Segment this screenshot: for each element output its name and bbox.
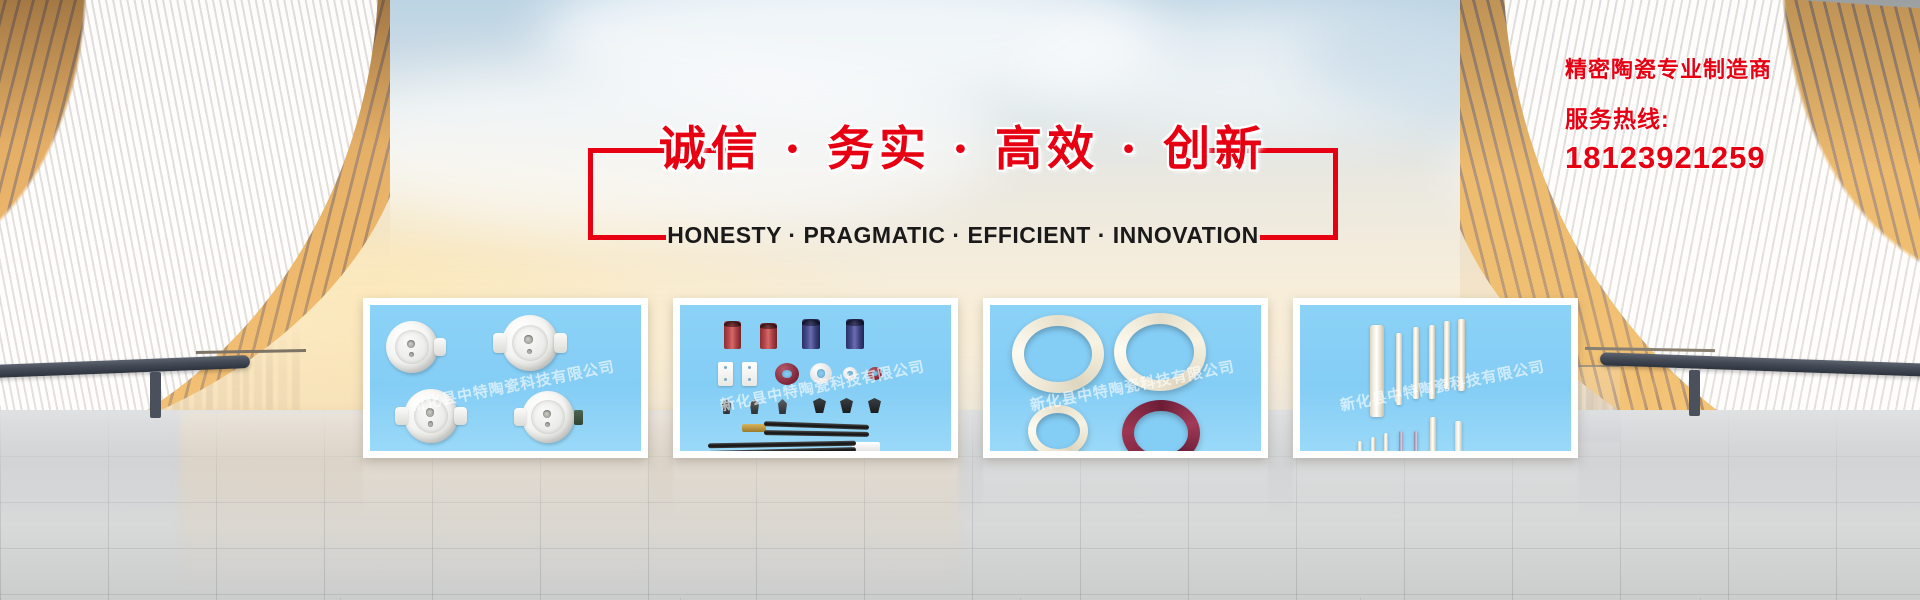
product-banner: 诚信 · 务实 · 高效 · 创新 HONESTY · PRAGMATIC · … xyxy=(0,0,1920,600)
slogan-block: 诚信 · 务实 · 高效 · 创新 HONESTY · PRAGMATIC · … xyxy=(588,148,1338,246)
slogan-chinese: 诚信 · 务实 · 高效 · 创新 xyxy=(588,110,1338,179)
company-tagline: 精密陶瓷专业制造商 xyxy=(1565,52,1905,84)
holder-hole xyxy=(407,340,415,348)
ceramic-rod xyxy=(1458,319,1465,391)
ceramic-sleeve-blue xyxy=(802,319,820,349)
holder-hole xyxy=(426,408,434,416)
railing-post-right-2 xyxy=(1689,370,1700,416)
slogan-english: HONESTY · PRAGMATIC · EFFICIENT · INNOVA… xyxy=(653,222,1272,249)
hotline-label: 服务热线: xyxy=(1565,100,1905,134)
ceramic-terminal xyxy=(778,399,787,414)
ceramic-rod-short xyxy=(1371,437,1375,451)
ceramic-terminal xyxy=(868,398,881,413)
sleeve-cap xyxy=(846,319,864,326)
plate-dot xyxy=(724,378,727,381)
ceramic-terminal xyxy=(840,398,853,413)
ceramic-sleeve-red xyxy=(760,323,777,349)
watermark: 新化县中特陶瓷科技有限公司 xyxy=(1300,347,1571,423)
ring-hole xyxy=(782,370,792,379)
holder-ear xyxy=(395,407,408,425)
ceramic-rod xyxy=(1444,321,1450,389)
ceramic-ring-maroon-small xyxy=(868,367,882,380)
wire-connector xyxy=(742,424,766,432)
ceramic-terminal xyxy=(750,399,759,414)
ceramic-ring-maroon xyxy=(775,363,799,385)
product-panel-rods[interactable]: 新化县中特陶瓷科技有限公司 xyxy=(1293,298,1578,458)
ceramic-plate xyxy=(742,362,757,386)
holder-ear xyxy=(454,407,467,425)
lamp-holder xyxy=(522,391,574,443)
ceramic-ring-maroon xyxy=(1122,400,1200,451)
ceramic-rod xyxy=(1396,333,1402,405)
product-panel-components[interactable]: 新化县中特陶瓷科技有限公司 xyxy=(673,298,958,458)
ceramic-rod-violet xyxy=(1399,431,1403,451)
ceramic-rod-short xyxy=(1384,433,1388,451)
ceramic-ring-large xyxy=(1012,315,1104,393)
sleeve-cap xyxy=(724,321,741,327)
ring-inner-hole xyxy=(1126,324,1194,380)
ceramic-rod-short xyxy=(1430,417,1436,451)
sleeve-cap xyxy=(760,323,777,329)
product-panel-lamp-holders[interactable]: 新化县中特陶瓷科技有限公司 xyxy=(363,298,648,458)
ceramic-rod-violet xyxy=(1414,431,1418,451)
ceramic-ring-white-small xyxy=(843,367,857,380)
panel-photo: 新化县中特陶瓷科技有限公司 xyxy=(370,305,641,451)
holder-pins xyxy=(574,410,583,426)
holder-ear xyxy=(434,338,446,356)
ceramic-rod xyxy=(1429,325,1435,399)
contact-block: 精密陶瓷专业制造商 服务热线: 18123921259 xyxy=(1565,52,1905,176)
ceramic-rod xyxy=(1413,327,1419,399)
floor-gloss xyxy=(0,410,1920,600)
plate-dot xyxy=(748,366,751,369)
wire-lead xyxy=(764,421,869,430)
holder-hole xyxy=(543,410,551,418)
railing-post-left xyxy=(150,372,161,418)
holder-ear xyxy=(554,333,567,352)
holder-ear xyxy=(493,333,506,352)
ceramic-sleeve-red xyxy=(724,321,741,349)
terrace-floor xyxy=(0,410,1920,600)
ceramic-terminal xyxy=(813,398,826,413)
panel-photo: 新化县中特陶瓷科技有限公司 xyxy=(1300,305,1571,451)
lamp-holder xyxy=(404,389,458,443)
plate-dot xyxy=(724,366,727,369)
product-panel-rings[interactable]: 新化县中特陶瓷科技有限公司 xyxy=(983,298,1268,458)
ring-inner-hole xyxy=(1024,326,1092,382)
ceramic-rod-short xyxy=(1358,441,1362,451)
ceramic-rod xyxy=(1370,325,1384,417)
ceramic-plate xyxy=(718,362,733,386)
holder-hole xyxy=(524,335,532,343)
wire-connector-white xyxy=(852,442,880,451)
ceramic-ring-large xyxy=(1114,313,1206,391)
ring-hole xyxy=(847,371,853,376)
hotline-number[interactable]: 18123921259 xyxy=(1565,140,1905,176)
curved-architecture-left xyxy=(0,0,390,450)
plate-dot xyxy=(748,378,751,381)
slogan-english-wrap: HONESTY · PRAGMATIC · EFFICIENT · INNOVA… xyxy=(588,222,1338,249)
lamp-holder xyxy=(502,315,558,371)
cloud xyxy=(540,0,1160,110)
ceramic-ring-white xyxy=(810,363,832,384)
holder-ear xyxy=(514,408,526,426)
panel-photo: 新化县中特陶瓷科技有限公司 xyxy=(990,305,1261,451)
lamp-holder xyxy=(386,321,438,373)
holder-hole xyxy=(428,421,433,426)
ring-hole xyxy=(872,371,878,376)
panel-photo: 新化县中特陶瓷科技有限公司 xyxy=(680,305,951,451)
ceramic-terminal xyxy=(722,399,731,414)
ring-inner-hole xyxy=(1036,413,1079,449)
sleeve-cap xyxy=(802,319,820,326)
ceramic-ring-small xyxy=(1028,405,1088,451)
wire-lead xyxy=(764,430,869,437)
ceramic-sleeve-blue xyxy=(846,319,864,349)
ring-hole xyxy=(817,369,826,377)
ceramic-rod-short xyxy=(1455,421,1462,451)
ring-inner-hole xyxy=(1134,411,1187,451)
